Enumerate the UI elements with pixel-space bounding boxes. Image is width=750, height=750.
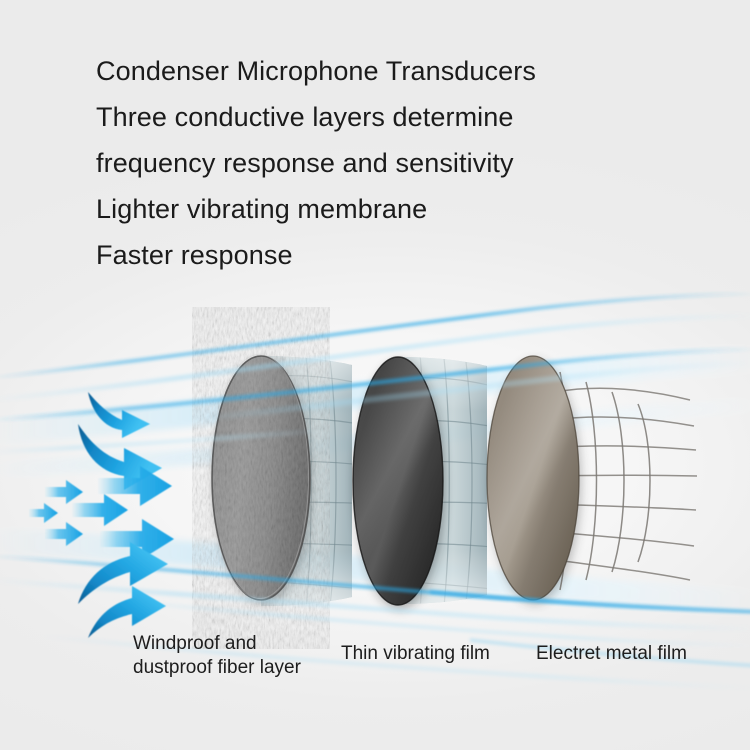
headline-line-3: frequency response and sensitivity [96,140,696,186]
headline-line-4: Lighter vibrating membrane [96,186,696,232]
small-arrow-1 [45,480,83,504]
disc-electret-metal-film [487,356,581,604]
label-fiber-layer: Windproof and dustproof fiber layer [133,632,363,680]
label-electret-metal-film: Electret metal film [536,642,746,666]
headline-line-2: Three conductive layers determine [96,94,696,140]
headline-line-1: Condenser Microphone Transducers [96,48,696,94]
headline-line-5: Faster response [96,232,696,278]
small-arrow-2 [29,503,58,523]
headline-block: Condenser Microphone Transducers Three c… [96,48,696,278]
label-vibrating-film: Thin vibrating film [341,642,541,666]
straight-arrow-mid-2 [72,494,128,526]
diagram-canvas: Condenser Microphone Transducers Three c… [0,0,750,750]
